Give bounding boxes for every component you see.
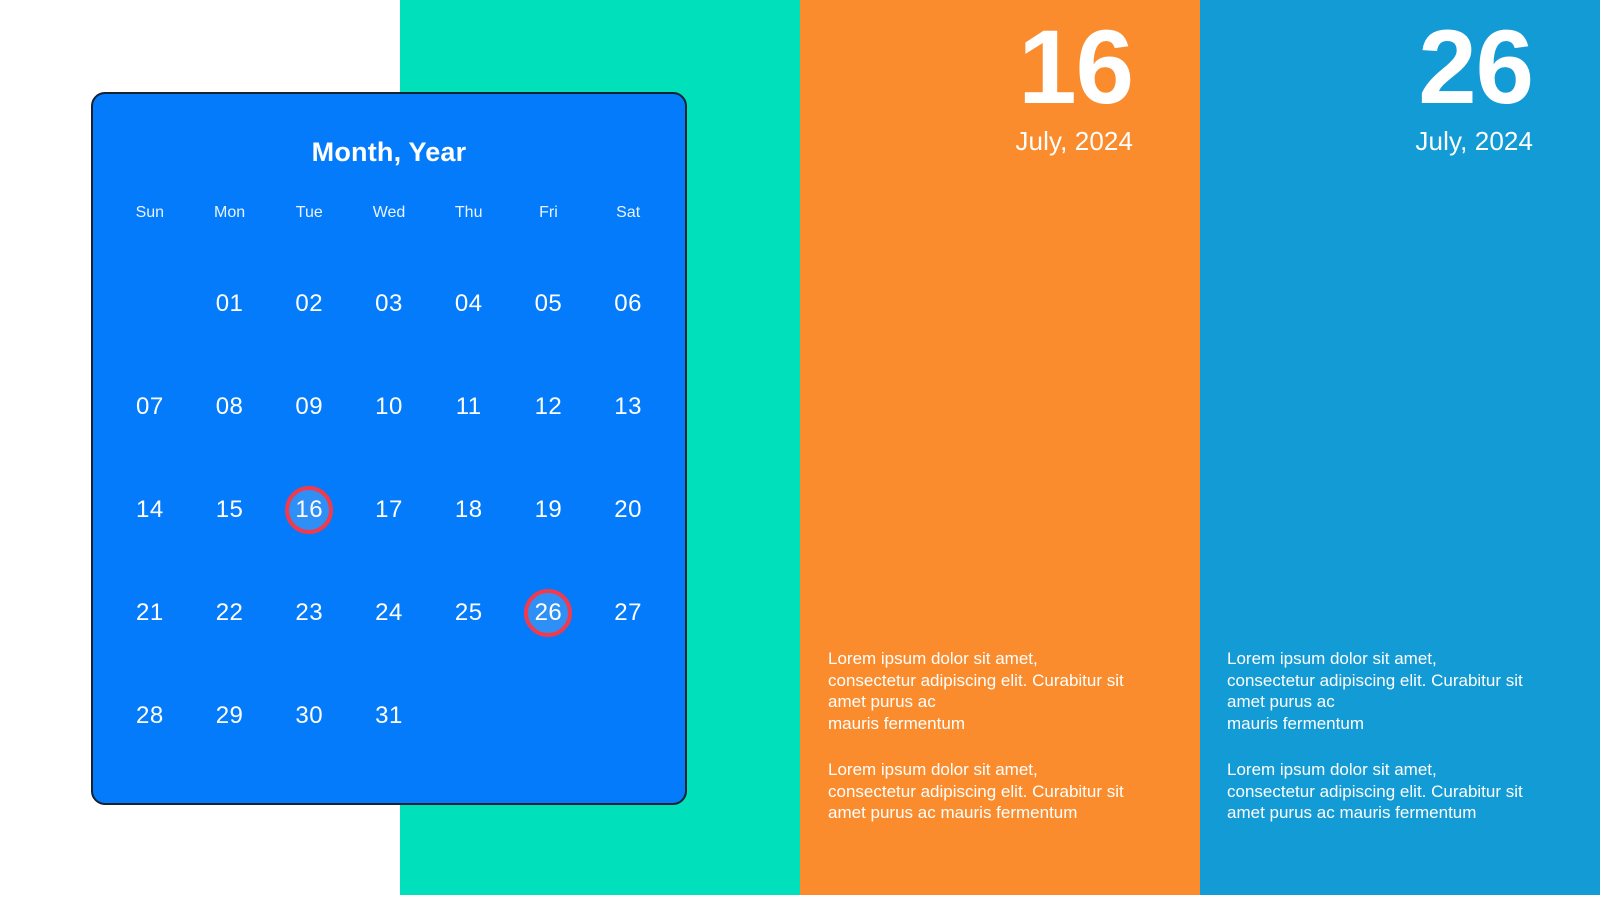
calendar-day-label: 28	[136, 702, 164, 730]
calendar-day-label: 05	[535, 290, 563, 318]
calendar-card: Month, Year SunMonTueWedThuFriSat 010203…	[91, 92, 687, 805]
calendar-day[interactable]: 06	[588, 281, 668, 327]
calendar-day-label: 30	[295, 702, 323, 730]
calendar-day[interactable]: 20	[588, 487, 668, 533]
calendar-day[interactable]: 19	[509, 487, 589, 533]
calendar-day[interactable]: 11	[429, 384, 509, 430]
calendar-day[interactable]: 05	[509, 281, 589, 327]
calendar-day[interactable]: 13	[588, 384, 668, 430]
calendar-day-selected[interactable]: 16	[269, 487, 349, 533]
calendar-day[interactable]: 12	[509, 384, 589, 430]
calendar-day-label: 11	[456, 393, 482, 421]
calendar-day-label: 14	[136, 496, 164, 524]
calendar-day[interactable]: 17	[349, 487, 429, 533]
calendar-week-row: 07080910111213	[110, 384, 668, 430]
calendar-day[interactable]: 08	[190, 384, 270, 430]
panel-body-orange: Lorem ipsum dolor sit amet,consectetur a…	[828, 648, 1182, 824]
calendar-day-empty	[588, 693, 668, 739]
calendar-day[interactable]: 14	[110, 487, 190, 533]
panel-paragraph: Lorem ipsum dolor sit amet,consectetur a…	[1227, 648, 1582, 734]
calendar-day-label: 17	[375, 496, 403, 524]
calendar-day-label: 04	[455, 290, 483, 318]
calendar-title: Month, Year	[93, 137, 685, 168]
calendar-day-label: 06	[614, 290, 642, 318]
calendar-weekday-thu: Thu	[429, 202, 509, 224]
calendar-day[interactable]: 25	[429, 590, 509, 636]
panel-paragraph: Lorem ipsum dolor sit amet,consectetur a…	[828, 759, 1182, 824]
calendar-week-row: 010203040506	[110, 281, 668, 327]
calendar-day-label: 03	[375, 290, 403, 318]
panel-heading-orange: 16 July, 2024	[1015, 13, 1133, 157]
calendar-weekday-fri: Fri	[509, 202, 589, 224]
calendar-day-label: 13	[614, 393, 642, 421]
calendar-weekday-mon: Mon	[190, 202, 270, 224]
calendar-day-label: 09	[295, 393, 323, 421]
calendar-day[interactable]: 10	[349, 384, 429, 430]
calendar-day[interactable]: 02	[269, 281, 349, 327]
calendar-day-label: 23	[295, 599, 323, 627]
calendar-weekday-header: SunMonTueWedThuFriSat	[110, 202, 668, 224]
calendar-day-label: 18	[455, 496, 483, 524]
calendar-day-label: 21	[136, 599, 164, 627]
calendar-day-empty	[429, 693, 509, 739]
calendar-day[interactable]: 15	[190, 487, 270, 533]
calendar-week-rows: 0102030405060708091011121314151617181920…	[110, 281, 668, 739]
calendar-day-label: 01	[216, 290, 244, 318]
calendar-day[interactable]: 28	[110, 693, 190, 739]
panel-paragraph: Lorem ipsum dolor sit amet,consectetur a…	[828, 648, 1182, 734]
calendar-day-label: 10	[375, 393, 403, 421]
calendar-day-label: 27	[614, 599, 642, 627]
calendar-day-label: 25	[455, 599, 483, 627]
calendar-day[interactable]: 24	[349, 590, 429, 636]
calendar-day-label: 16	[295, 496, 323, 524]
detail-panel-cyan: 26 July, 2024 Lorem ipsum dolor sit amet…	[1200, 0, 1600, 895]
calendar-day-label: 19	[535, 496, 563, 524]
panel-body-cyan: Lorem ipsum dolor sit amet,consectetur a…	[1227, 648, 1582, 824]
calendar-day-label: 08	[216, 393, 244, 421]
detail-panel-orange: 16 July, 2024 Lorem ipsum dolor sit amet…	[800, 0, 1200, 895]
calendar-day[interactable]: 21	[110, 590, 190, 636]
calendar-week-row: 14151617181920	[110, 487, 668, 533]
calendar-day-label: 22	[216, 599, 244, 627]
panel-paragraph: Lorem ipsum dolor sit amet,consectetur a…	[1227, 759, 1582, 824]
calendar-day-label: 15	[216, 496, 244, 524]
calendar-week-row: 21222324252627	[110, 590, 668, 636]
panel-day-number: 16	[1015, 13, 1133, 123]
calendar-day[interactable]: 23	[269, 590, 349, 636]
calendar-day[interactable]: 18	[429, 487, 509, 533]
calendar-day-label: 26	[535, 599, 563, 627]
calendar-day-label: 12	[535, 393, 563, 421]
calendar-day-label: 20	[614, 496, 642, 524]
calendar-weekday-sat: Sat	[588, 202, 668, 224]
calendar-grid: SunMonTueWedThuFriSat 010203040506070809…	[110, 202, 668, 739]
panel-heading-cyan: 26 July, 2024	[1415, 13, 1533, 157]
calendar-day-label: 07	[136, 393, 164, 421]
calendar-week-row: 28293031	[110, 693, 668, 739]
calendar-day[interactable]: 09	[269, 384, 349, 430]
calendar-day-empty	[110, 281, 190, 327]
calendar-day-label: 31	[375, 702, 403, 730]
calendar-day[interactable]: 22	[190, 590, 270, 636]
calendar-day[interactable]: 30	[269, 693, 349, 739]
calendar-day-label: 24	[375, 599, 403, 627]
calendar-day-selected[interactable]: 26	[509, 590, 589, 636]
calendar-weekday-sun: Sun	[110, 202, 190, 224]
calendar-day[interactable]: 29	[190, 693, 270, 739]
calendar-day[interactable]: 03	[349, 281, 429, 327]
calendar-day[interactable]: 27	[588, 590, 668, 636]
panel-day-number: 26	[1415, 13, 1533, 123]
panel-month-year: July, 2024	[1415, 125, 1533, 157]
calendar-day[interactable]: 31	[349, 693, 429, 739]
calendar-day-label: 29	[216, 702, 244, 730]
calendar-day[interactable]: 07	[110, 384, 190, 430]
calendar-day[interactable]: 01	[190, 281, 270, 327]
calendar-day[interactable]: 04	[429, 281, 509, 327]
panel-month-year: July, 2024	[1015, 125, 1133, 157]
calendar-weekday-wed: Wed	[349, 202, 429, 224]
calendar-day-label: 02	[295, 290, 323, 318]
calendar-day-empty	[509, 693, 589, 739]
calendar-weekday-tue: Tue	[269, 202, 349, 224]
